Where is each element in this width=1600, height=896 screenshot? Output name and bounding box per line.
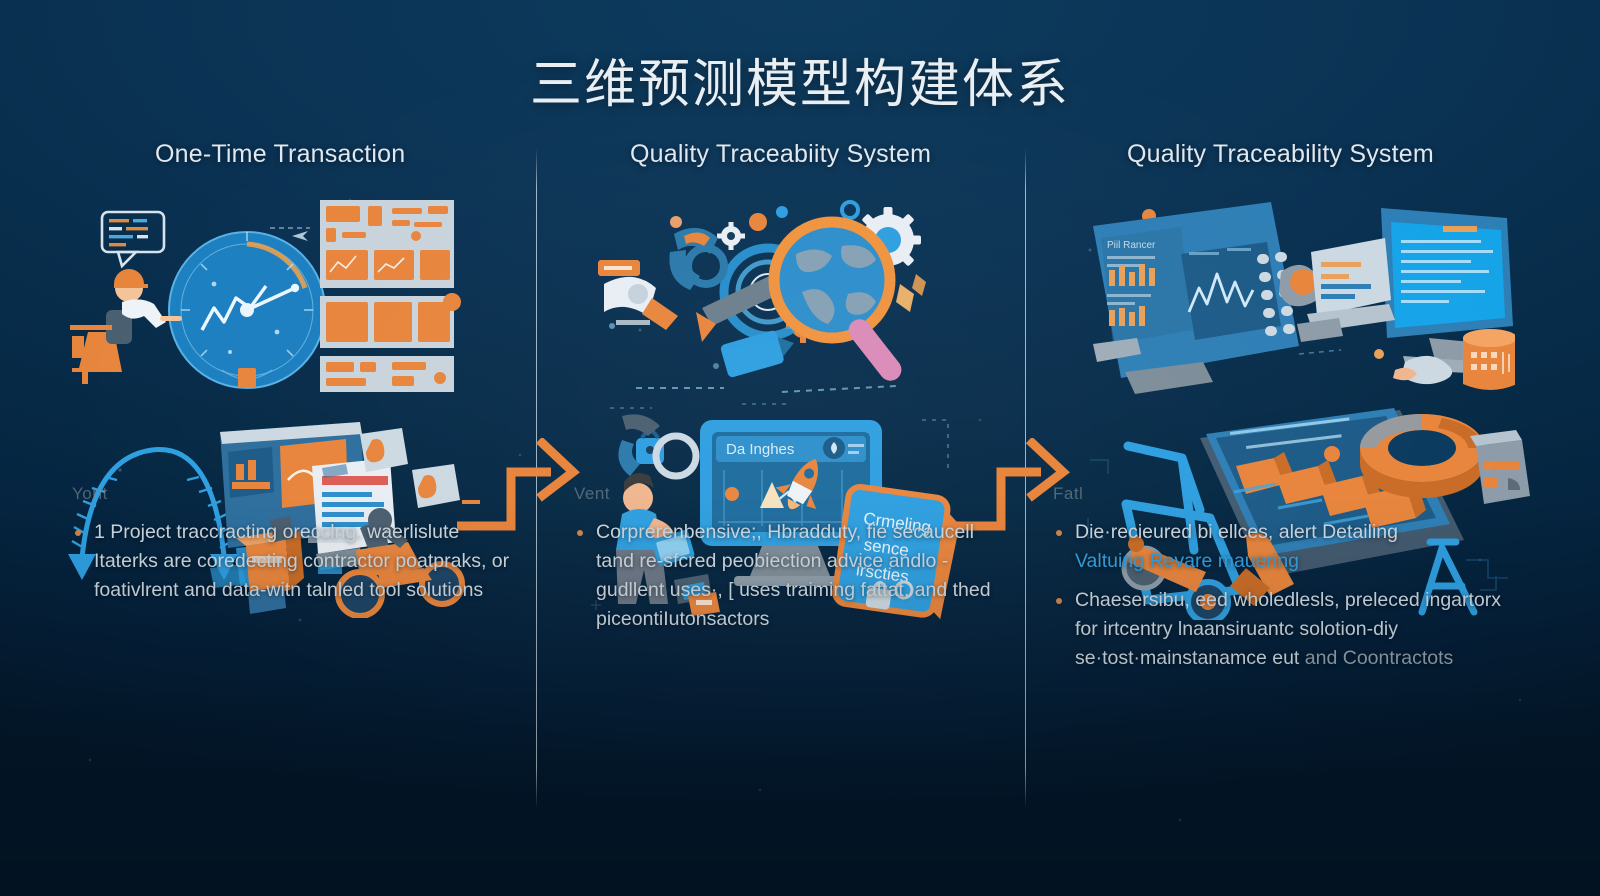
text-block-column-1: Yorlt 1 Project traccracting orecclng. w… (60, 484, 512, 615)
bullet-line: 1 Project traccracting orecclng. (94, 521, 362, 543)
bullet-line: Die·recieured bi ellces, alert Detailing (1075, 521, 1398, 543)
text-block-column-2: Vent Corprerenbensive;, Hbradduty, fie s… (560, 484, 994, 644)
kicker-1: Yorlt (72, 484, 512, 504)
infographic-canvas: 三维预测模型构建体系 One-Time Transaction (0, 0, 1600, 896)
column-header-3: Quality Traceability System (1035, 140, 1535, 169)
illo-worker-gauge (62, 192, 462, 392)
svg-text:Da Inghes: Da Inghes (726, 441, 794, 458)
bullet-line: and Coontractots (1305, 647, 1454, 669)
column-header-2: Quality Traceabiity System (560, 140, 1000, 169)
bullet-line: Corprerenbensive;, Hbradduty, (596, 521, 861, 543)
text-block-column-3: Fatl Die·recieured bi ellces, alert Deta… (1035, 484, 1523, 683)
svg-text:Piil Rancer: Piil Rancer (1107, 240, 1156, 251)
column-header-1: One-Time Transaction (60, 140, 530, 169)
illo-dual-monitors: Piil Rancer (1085, 196, 1515, 396)
kicker-3: Fatl (1053, 484, 1523, 504)
list-item: Corprerenbensive;, Hbradduty, fie secauc… (574, 518, 994, 634)
bullet-line: Chaesersibu, eed wholedlesls, preleced (1075, 589, 1420, 611)
illo-magnifier-globe (596, 196, 944, 396)
bullet-line: data-witn talnled tool solutions (222, 579, 483, 601)
bullet-list-1: 1 Project traccracting orecclng. waerlis… (72, 518, 512, 605)
list-item: 1 Project traccracting orecclng. waerlis… (72, 518, 512, 605)
bullet-line: uses·, [ uses traiming fattat, and (670, 579, 947, 601)
bullet-line-highlight: Valtuing Revare mauering (1075, 547, 1523, 576)
list-item: Chaesersibu, eed wholedlesls, preleced i… (1053, 586, 1523, 673)
bullet-list-3: Die·recieured bi ellces, alert Detailing… (1053, 518, 1523, 673)
kicker-2: Vent (574, 484, 994, 504)
page-title: 三维预测模型构建体系 (0, 42, 1600, 117)
bullet-list-2: Corprerenbensive;, Hbradduty, fie secauc… (574, 518, 994, 634)
list-item: Die·recieured bi ellces, alert Detailing… (1053, 518, 1523, 576)
